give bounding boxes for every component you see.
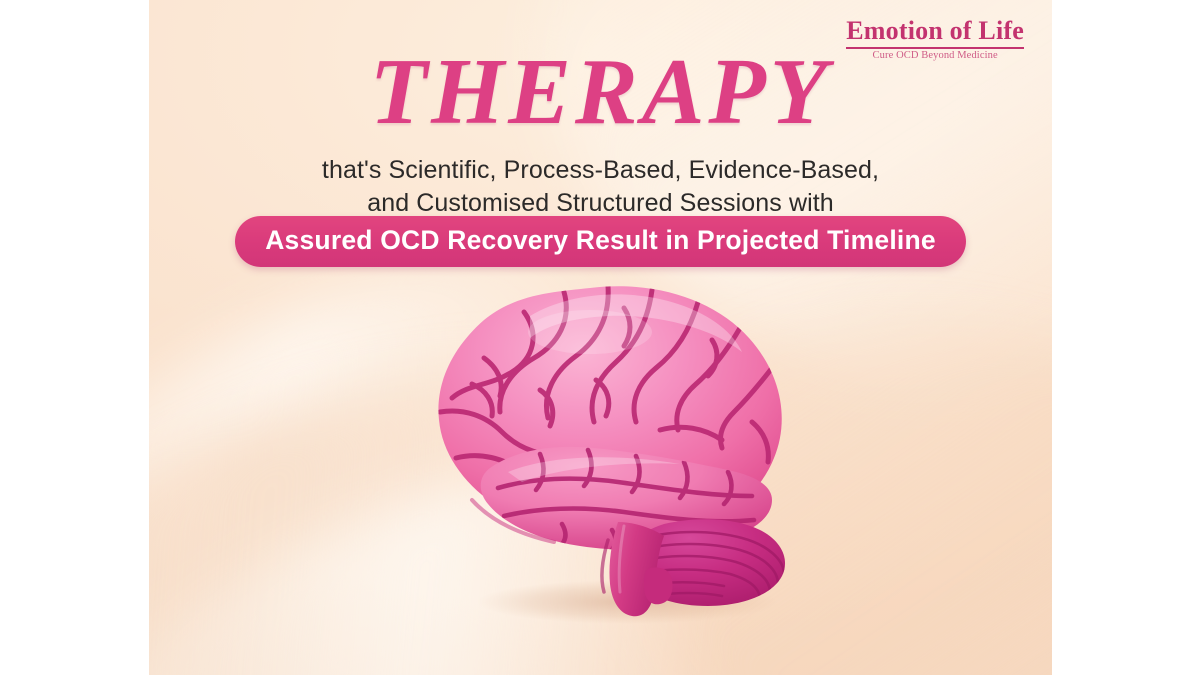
subtitle: that's Scientific, Process-Based, Eviden… bbox=[149, 154, 1052, 220]
poster-canvas: Emotion of Life Cure OCD Beyond Medicine… bbox=[0, 0, 1200, 675]
headline-block: THERAPY that's Scientific, Process-Based… bbox=[149, 46, 1052, 220]
highlight-banner-text: Assured OCD Recovery Result in Projected… bbox=[265, 225, 936, 255]
brain-illustration bbox=[412, 272, 812, 632]
brand-name: Emotion of Life bbox=[846, 18, 1024, 44]
highlight-banner: Assured OCD Recovery Result in Projected… bbox=[235, 216, 966, 267]
subtitle-line-1: that's Scientific, Process-Based, Eviden… bbox=[149, 154, 1052, 187]
poster-background: Emotion of Life Cure OCD Beyond Medicine… bbox=[149, 0, 1052, 675]
page-title: THERAPY bbox=[149, 46, 1052, 138]
highlight-banner-wrap: Assured OCD Recovery Result in Projected… bbox=[149, 216, 1052, 267]
